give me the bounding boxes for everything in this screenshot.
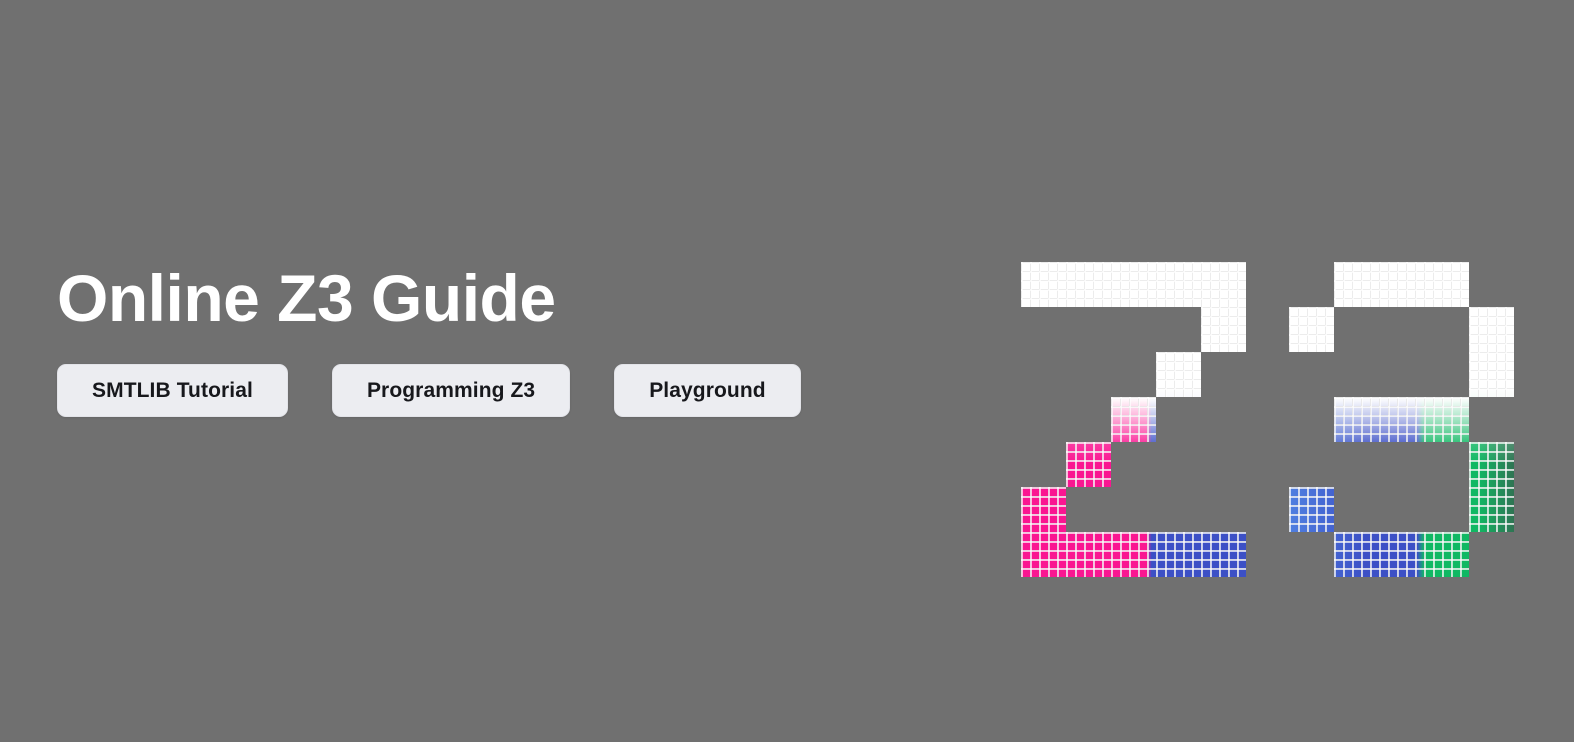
glyph-cell-grid (1469, 442, 1514, 487)
glyph-block (1201, 307, 1246, 352)
glyph-block (1289, 487, 1334, 532)
glyph-block (1289, 307, 1334, 352)
glyph-cell-grid (1021, 487, 1066, 532)
programming-z3-button[interactable]: Programming Z3 (332, 364, 570, 417)
glyph-cell-grid (1334, 397, 1469, 442)
glyph-block (1469, 307, 1514, 352)
glyph-cell-grid (1021, 262, 1246, 307)
glyph-cell-grid (1469, 352, 1514, 397)
glyph-block (1156, 352, 1201, 397)
glyph-cell-grid (1334, 262, 1469, 307)
glyph-block (1334, 532, 1469, 577)
glyph-cell-grid (1289, 487, 1334, 532)
glyph-cell-grid (1289, 307, 1334, 352)
smtlib-tutorial-button[interactable]: SMTLIB Tutorial (57, 364, 288, 417)
pixel-glyph-z (1021, 262, 1246, 577)
glyph-cell-grid (1334, 532, 1469, 577)
glyph-block (1066, 442, 1111, 487)
glyph-block (1021, 487, 1066, 532)
glyph-cell-grid (1066, 442, 1111, 487)
glyph-cell-grid (1111, 397, 1156, 442)
glyph-block (1334, 262, 1469, 307)
glyph-cell-grid (1469, 307, 1514, 352)
glyph-block (1469, 442, 1514, 487)
glyph-block (1469, 487, 1514, 532)
glyph-cell-grid (1469, 487, 1514, 532)
glyph-block (1469, 352, 1514, 397)
glyph-block (1334, 397, 1469, 442)
glyph-block (1021, 532, 1246, 577)
glyph-cell-grid (1201, 307, 1246, 352)
cta-button-row: SMTLIB Tutorial Programming Z3 Playgroun… (57, 364, 977, 417)
glyph-block (1111, 397, 1156, 442)
playground-button[interactable]: Playground (614, 364, 801, 417)
glyph-block (1021, 262, 1246, 307)
glyph-mask (1289, 262, 1514, 577)
page-title: Online Z3 Guide (57, 255, 977, 341)
glyph-cell-grid (1156, 352, 1201, 397)
hero-left-column: Online Z3 Guide SMTLIB Tutorial Programm… (57, 255, 977, 417)
glyph-cell-grid (1021, 532, 1246, 577)
pixel-glyph-3 (1289, 262, 1514, 577)
z3-pixel-logo (1021, 262, 1513, 579)
glyph-mask (1021, 262, 1246, 577)
hero-section: Online Z3 Guide SMTLIB Tutorial Programm… (0, 0, 1574, 742)
